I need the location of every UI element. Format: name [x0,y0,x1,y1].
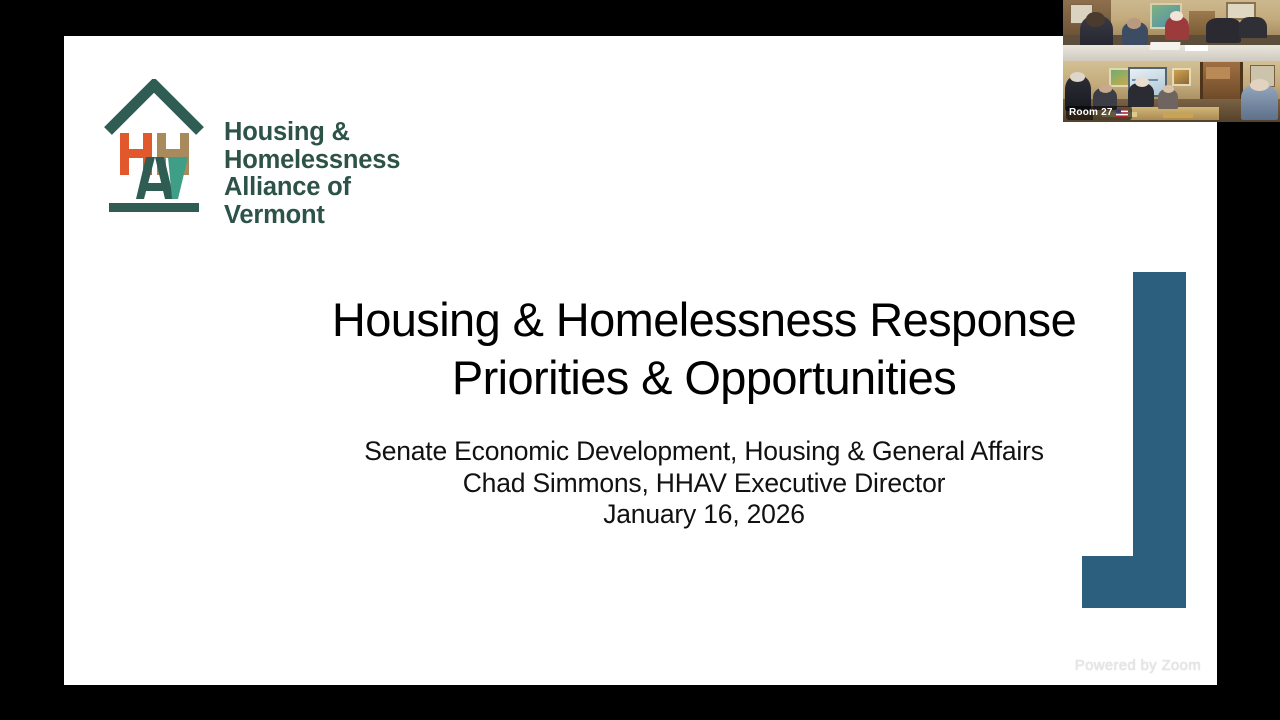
video-tile-1[interactable] [1063,0,1280,61]
video-tile-2[interactable]: Room 27 [1063,61,1280,122]
hhav-wordmark: Housing & Homelessness Alliance of Vermo… [224,119,400,229]
participant-name-label: Room 27 [1066,106,1132,121]
flag-icon [1116,109,1128,117]
presentation-slide: Housing & Homelessness Alliance of Vermo… [64,36,1217,685]
slide-subtitle: Senate Economic Development, Housing & G… [174,436,1217,531]
room-name-text: Room 27 [1069,107,1113,120]
video-tile-1-scene [1063,0,1280,61]
subtitle-line-date: January 16, 2026 [174,499,1217,531]
powered-by-zoom-watermark: Powered by Zoom [1075,657,1201,674]
screen-share-stage: Housing & Homelessness Alliance of Vermo… [0,0,1280,720]
participant-video-filmstrip[interactable]: Room 27 [1063,0,1280,122]
subtitle-line-committee: Senate Economic Development, Housing & G… [174,436,1217,468]
hhav-house-logo-icon [102,79,206,215]
hhav-logo: Housing & Homelessness Alliance of Vermo… [102,79,400,229]
subtitle-line-presenter: Chad Simmons, HHAV Executive Director [174,468,1217,500]
slide-title: Housing & Homelessness Response Prioriti… [174,291,1217,408]
